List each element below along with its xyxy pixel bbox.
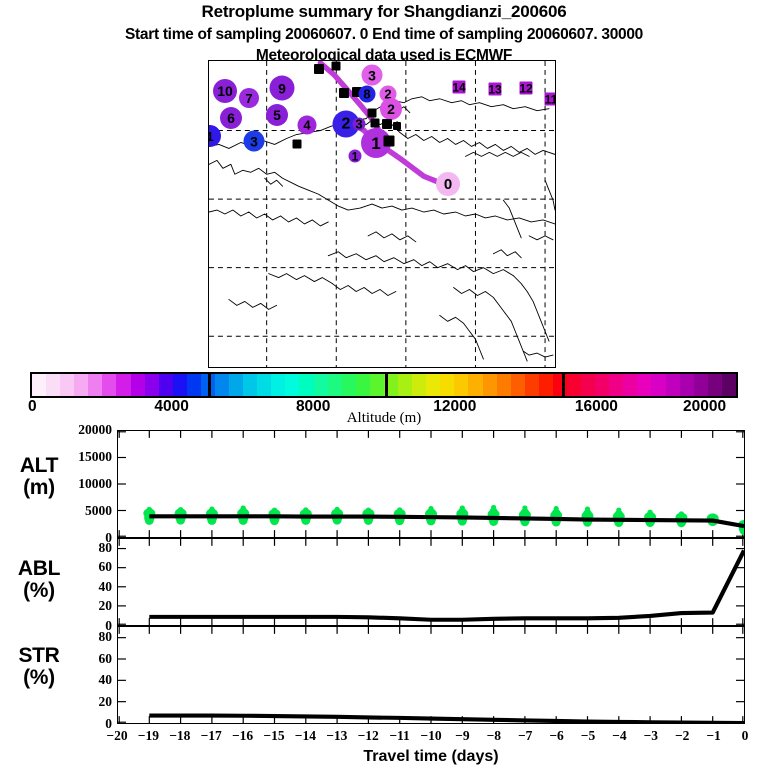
altitude-scatter-point bbox=[491, 507, 495, 511]
map-marker-day-6: 6 bbox=[220, 107, 242, 129]
str-chart[interactable] bbox=[117, 626, 745, 724]
colorbar-cell-43 bbox=[637, 374, 651, 396]
colorbar-cell-15 bbox=[243, 374, 257, 396]
map-marker-day-9: 9 bbox=[270, 76, 295, 101]
colorbar-cell-36 bbox=[539, 374, 553, 396]
altitude-scatter-point bbox=[648, 511, 652, 515]
colorbar-cell-41 bbox=[609, 374, 623, 396]
page-title: Retroplume summary for Shangdianzi_20060… bbox=[0, 2, 768, 22]
map-marker-day-1: 1 bbox=[384, 136, 395, 147]
map-marker-day-3: 3 bbox=[362, 65, 383, 86]
colorbar-cell-44 bbox=[651, 374, 665, 396]
series-line-stratospheric-fraction bbox=[149, 716, 744, 723]
altitude-scatter-point bbox=[585, 509, 589, 513]
altitude-plot-graphics bbox=[118, 431, 744, 537]
abl-plot-graphics bbox=[118, 539, 744, 625]
altitude-scatter-point bbox=[366, 508, 370, 512]
xtick-20: 0 bbox=[725, 728, 765, 744]
map-marker-day-3: 3 bbox=[382, 119, 392, 129]
colorbar-cell-42 bbox=[623, 374, 637, 396]
altitude-colorbar bbox=[30, 372, 738, 398]
abl-ytick-20: 20 bbox=[48, 598, 112, 614]
map-marker-day-8: 8 bbox=[359, 86, 376, 103]
colorbar-cell-17 bbox=[271, 374, 285, 396]
colorbar-cell-40 bbox=[595, 374, 609, 396]
abl-ytick-80: 80 bbox=[48, 540, 112, 556]
colorbar-cell-11 bbox=[187, 374, 201, 396]
colorbar-cell-1 bbox=[46, 374, 60, 396]
colorbar-cell-33 bbox=[497, 374, 511, 396]
colorbar-cell-38 bbox=[567, 374, 581, 396]
colorbar-cell-45 bbox=[666, 374, 680, 396]
map-marker-day-14: 14 bbox=[453, 81, 466, 94]
map-marker-day-3: 3 bbox=[339, 88, 349, 98]
colorbar-cell-34 bbox=[511, 374, 525, 396]
colorbar-cell-14 bbox=[229, 374, 243, 396]
colorbar-cell-37 bbox=[553, 374, 567, 396]
map-marker-day-7: 7 bbox=[239, 88, 259, 108]
colorbar-cell-7 bbox=[131, 374, 145, 396]
colorbar-cell-46 bbox=[680, 374, 694, 396]
colorbar-cell-13 bbox=[215, 374, 229, 396]
alt-ytick-20000: 20000 bbox=[48, 422, 112, 438]
alt-ytick-10000: 10000 bbox=[48, 476, 112, 492]
colorbar-cell-2 bbox=[60, 374, 74, 396]
altitude-scatter-point bbox=[272, 508, 276, 512]
colorbar-cell-24 bbox=[370, 374, 384, 396]
map-marker-day-1: 1 bbox=[349, 150, 362, 163]
map-marker-day-5: 5 bbox=[371, 119, 380, 128]
map-marker-day-12: 12 bbox=[520, 82, 533, 95]
colorbar-cell-31 bbox=[468, 374, 482, 396]
colorbar-divider bbox=[208, 374, 211, 396]
colorbar-cell-21 bbox=[328, 374, 342, 396]
colorbar-cell-9 bbox=[159, 374, 173, 396]
abl-chart[interactable] bbox=[117, 538, 745, 626]
colorbar-cell-10 bbox=[173, 374, 187, 396]
altitude-scatter-point bbox=[617, 509, 621, 513]
sampling-time-subtitle: Start time of sampling 20060607. 0 End t… bbox=[0, 26, 768, 44]
altitude-scatter-point bbox=[241, 507, 245, 511]
map-marker-day-2: 2 bbox=[293, 140, 302, 149]
colorbar-cell-22 bbox=[342, 374, 356, 396]
str-ytick-20: 20 bbox=[48, 694, 112, 710]
colorbar-cell-30 bbox=[454, 374, 468, 396]
colorbar-axis-title: Altitude (m) bbox=[0, 410, 768, 427]
map-marker-day-13: 13 bbox=[489, 83, 502, 96]
alt-ytick-5000: 5000 bbox=[48, 503, 112, 519]
map-marker-day-3: 3 bbox=[244, 131, 265, 152]
colorbar-cell-23 bbox=[356, 374, 370, 396]
str-ytick-60: 60 bbox=[48, 651, 112, 667]
x-axis-title: Travel time (days) bbox=[117, 748, 745, 766]
colorbar-cell-16 bbox=[257, 374, 271, 396]
colorbar-cell-0 bbox=[32, 374, 46, 396]
colorbar-cell-49 bbox=[722, 374, 736, 396]
altitude-chart[interactable] bbox=[117, 430, 745, 538]
colorbar-cell-29 bbox=[440, 374, 454, 396]
abl-ytick-40: 40 bbox=[48, 579, 112, 595]
colorbar-cell-8 bbox=[145, 374, 159, 396]
colorbar-cell-27 bbox=[412, 374, 426, 396]
colorbar-cell-32 bbox=[483, 374, 497, 396]
colorbar-cell-26 bbox=[398, 374, 412, 396]
map-marker-day-4: 4 bbox=[332, 62, 341, 71]
colorbar-cell-47 bbox=[694, 374, 708, 396]
altitude-scatter-point bbox=[711, 514, 715, 518]
str-ytick-40: 40 bbox=[48, 672, 112, 688]
altitude-scatter-point bbox=[304, 508, 308, 512]
altitude-scatter-point bbox=[460, 507, 464, 511]
map-marker-day-4: 4 bbox=[314, 64, 324, 74]
str-ytick-80: 80 bbox=[48, 629, 112, 645]
altitude-scatter-point bbox=[523, 507, 527, 511]
altitude-scatter-point bbox=[398, 508, 402, 512]
map-marker-day-10: 10 bbox=[213, 79, 237, 103]
str-plot-graphics bbox=[118, 627, 744, 723]
colorbar-cell-35 bbox=[525, 374, 539, 396]
colorbar-cell-48 bbox=[708, 374, 722, 396]
altitude-scatter-point bbox=[679, 512, 683, 516]
altitude-scatter-point bbox=[147, 507, 151, 511]
map-marker-day-1: 1 bbox=[393, 122, 401, 130]
colorbar-cell-20 bbox=[314, 374, 328, 396]
alt-ytick-15000: 15000 bbox=[48, 449, 112, 465]
series-line-ABL-residence-fraction bbox=[149, 550, 744, 619]
colorbar-gradient bbox=[30, 372, 738, 398]
abl-ytick-60: 60 bbox=[48, 559, 112, 575]
colorbar-divider bbox=[562, 374, 565, 396]
altitude-scatter-point bbox=[335, 507, 339, 511]
colorbar-cell-3 bbox=[74, 374, 88, 396]
map-marker-day-3: 3 bbox=[353, 118, 366, 131]
altitude-scatter-point bbox=[429, 507, 433, 511]
map-marker-day-4: 4 bbox=[298, 116, 317, 135]
altitude-scatter-point bbox=[178, 507, 182, 511]
retroplume-map[interactable]: 107965134244338322253231111141312110 bbox=[208, 60, 556, 368]
colorbar-cell-5 bbox=[102, 374, 116, 396]
colorbar-cell-6 bbox=[116, 374, 130, 396]
altitude-scatter-point bbox=[554, 508, 558, 512]
colorbar-cell-28 bbox=[426, 374, 440, 396]
colorbar-divider bbox=[385, 374, 388, 396]
colorbar-cell-39 bbox=[581, 374, 595, 396]
map-marker-day-0: 0 bbox=[436, 172, 460, 196]
colorbar-cell-18 bbox=[285, 374, 299, 396]
altitude-scatter-point bbox=[210, 507, 214, 511]
colorbar-cell-4 bbox=[88, 374, 102, 396]
map-marker-day-11: 11 bbox=[545, 93, 557, 106]
map-marker-day-5: 5 bbox=[266, 104, 288, 126]
colorbar-cell-19 bbox=[299, 374, 313, 396]
